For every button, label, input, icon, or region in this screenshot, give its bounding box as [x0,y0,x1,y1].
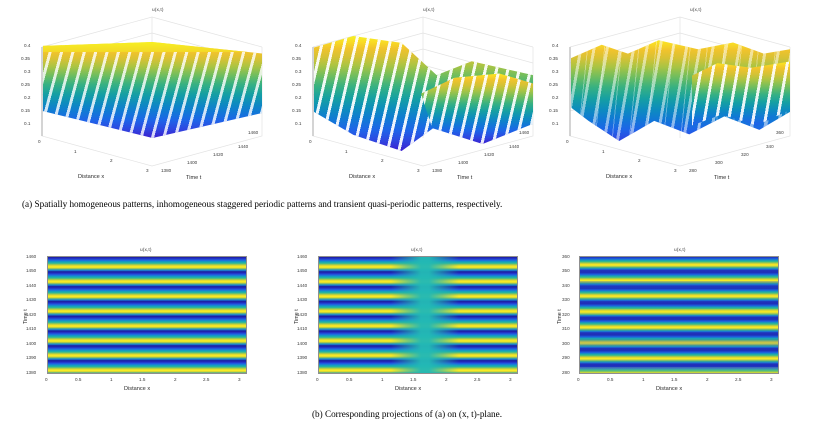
x-axis-label: Distance x [606,174,632,180]
y-tick: 1420 [297,312,307,317]
x-tick: 2.5 [474,377,480,382]
heatmap-axes [579,256,779,374]
y-tick: 320 [562,312,570,317]
z-tick: 0.15 [21,108,30,113]
x-axis-label: Distance x [656,386,682,392]
x-tick: 3 [674,168,677,173]
x-tick: 2 [110,158,113,163]
y-tick: 1450 [297,268,307,273]
x-tick: 0.5 [346,377,352,382]
y-tick: 290 [562,355,570,360]
x-tick: 3 [238,377,241,382]
z-tick: 0.2 [552,95,558,100]
y-tick: 300 [562,341,570,346]
y-tick: 340 [766,144,774,149]
z-tick: 0.25 [292,82,301,87]
x-tick: 3 [146,168,149,173]
plot-title: u(x,t) [674,248,686,253]
x-tick: 2.5 [203,377,209,382]
z-tick: 0.2 [24,95,30,100]
heatmap-image [48,257,246,373]
y-tick: 1380 [432,168,442,173]
z-tick: 0.1 [295,121,301,126]
y-tick: 1400 [297,341,307,346]
z-tick: 0.35 [21,56,30,61]
x-tick: 0 [309,139,312,144]
top-row-3d-plots: u(x,t) [0,0,814,192]
x-tick: 0 [316,377,319,382]
y-tick: 1440 [238,144,248,149]
plot-title: u(x,t) [411,248,423,253]
x-tick: 2 [445,377,448,382]
bottom-row-projections: u(x,t) Time t 1460 1450 1440 1430 1420 1… [0,243,814,408]
y-tick: 1430 [297,297,307,302]
x-tick: 1.5 [410,377,416,382]
z-tick: 0.3 [24,69,30,74]
y-tick: 1440 [509,144,519,149]
x-tick: 1 [74,149,77,154]
y-tick: 1460 [297,254,307,259]
surface-plot-3: u(x,t) [542,0,813,190]
x-axis-label: Distance x [395,386,421,392]
x-tick: 1.5 [139,377,145,382]
y-axis-label: Time t [23,284,29,324]
x-tick: 1 [602,149,605,154]
x-tick: 2.5 [735,377,741,382]
quasi-period-modulation [580,257,778,373]
y-axis-label: Time t [294,284,300,324]
y-tick: 1410 [297,326,307,331]
x-tick: 0 [38,139,41,144]
x-tick: 2 [638,158,641,163]
z-tick: 0.35 [549,56,558,61]
x-tick: 0.5 [75,377,81,382]
z-tick: 0.15 [292,108,301,113]
y-tick: 1400 [458,160,468,165]
caption-a: (a) Spatially homogeneous patterns, inho… [22,198,792,211]
plot-title: u(x,t) [140,248,152,253]
z-tick: 0.4 [24,43,30,48]
projection-plot-1: u(x,t) Time t 1460 1450 1440 1430 1420 1… [0,243,271,408]
z-tick: 0.15 [549,108,558,113]
y-tick: 1440 [26,283,36,288]
y-tick: 1380 [297,370,307,375]
x-tick: 0 [45,377,48,382]
x-tick: 3 [770,377,773,382]
y-tick: 1390 [297,355,307,360]
heatmap-axes [47,256,247,374]
z-tick: 0.35 [292,56,301,61]
x-tick: 1 [345,149,348,154]
caption-b: (b) Corresponding projections of (a) on … [22,408,792,421]
projection-plot-3: u(x,t) Time t 360 350 340 330 320 310 30… [542,243,813,408]
x-tick: 2 [381,158,384,163]
y-axis-label: Time t [457,175,472,181]
heatmap-axes [318,256,518,374]
y-tick: 1380 [161,168,171,173]
y-tick: 1430 [26,297,36,302]
z-tick: 0.3 [295,69,301,74]
y-tick: 1390 [26,355,36,360]
y-axis-label: Time t [557,284,563,324]
x-tick: 1 [110,377,113,382]
x-tick: 2 [174,377,177,382]
z-tick: 0.25 [549,82,558,87]
y-tick: 1460 [26,254,36,259]
figure-root: u(x,t) [0,0,814,442]
x-tick: 3 [509,377,512,382]
y-tick: 330 [562,297,570,302]
x-tick: 1 [642,377,645,382]
z-tick: 0.4 [295,43,301,48]
x-tick: 0 [577,377,580,382]
y-tick: 1420 [484,152,494,157]
y-tick: 280 [562,370,570,375]
y-tick: 1420 [213,152,223,157]
x-tick: 1 [381,377,384,382]
y-tick: 1460 [248,130,258,135]
y-tick: 1420 [26,312,36,317]
y-tick: 280 [689,168,697,173]
nodal-band [319,257,518,374]
y-tick: 300 [715,160,723,165]
y-tick: 1410 [26,326,36,331]
y-tick: 1440 [297,283,307,288]
projection-plot-2: u(x,t) Time t 1460 1450 1440 1430 1420 1… [271,243,542,408]
surface-plot-1: u(x,t) [0,0,271,190]
y-axis-label: Time t [186,175,201,181]
y-tick: 1400 [187,160,197,165]
z-tick: 0.1 [24,121,30,126]
y-tick: 1400 [26,341,36,346]
x-axis-label: Distance x [78,174,104,180]
x-tick: 0.5 [607,377,613,382]
y-tick: 360 [562,254,570,259]
y-tick: 1380 [26,370,36,375]
x-axis-label: Distance x [349,174,375,180]
z-tick: 0.1 [552,121,558,126]
z-tick: 0.3 [552,69,558,74]
y-tick: 310 [562,326,570,331]
y-tick: 350 [562,268,570,273]
z-tick: 0.25 [21,82,30,87]
x-tick: 3 [417,168,420,173]
y-tick: 1450 [26,268,36,273]
z-tick: 0.4 [552,43,558,48]
y-tick: 360 [776,130,784,135]
x-axis-label: Distance x [124,386,150,392]
surface-plot-2: u(x,t) [271,0,542,190]
y-tick: 340 [562,283,570,288]
x-tick: 0 [566,139,569,144]
z-tick: 0.2 [295,95,301,100]
y-tick: 1460 [519,130,529,135]
x-tick: 1.5 [671,377,677,382]
x-tick: 2 [706,377,709,382]
y-tick: 320 [741,152,749,157]
y-axis-label: Time t [714,175,729,181]
